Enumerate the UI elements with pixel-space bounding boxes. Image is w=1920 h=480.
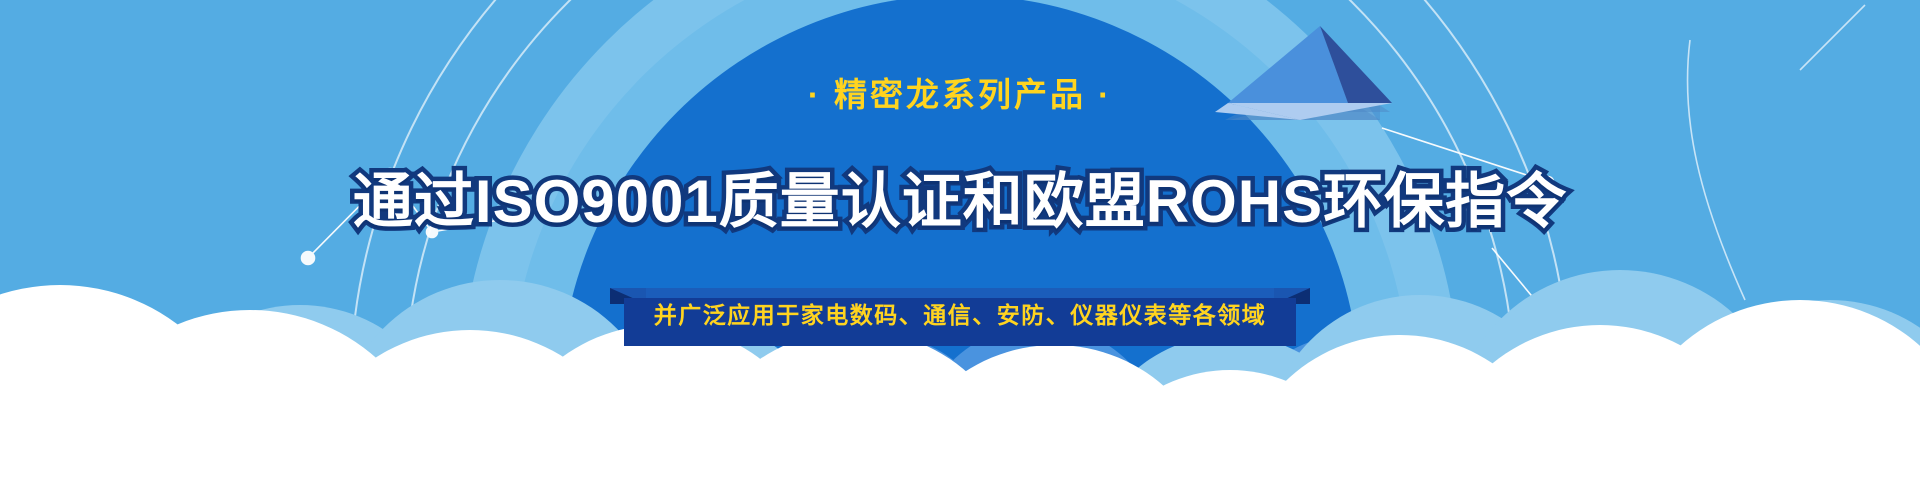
banner-background (0, 0, 1920, 480)
promo-banner: · 精密龙系列产品 · 通过ISO9001质量认证和欧盟ROHS环保指令 并广泛… (0, 0, 1920, 480)
